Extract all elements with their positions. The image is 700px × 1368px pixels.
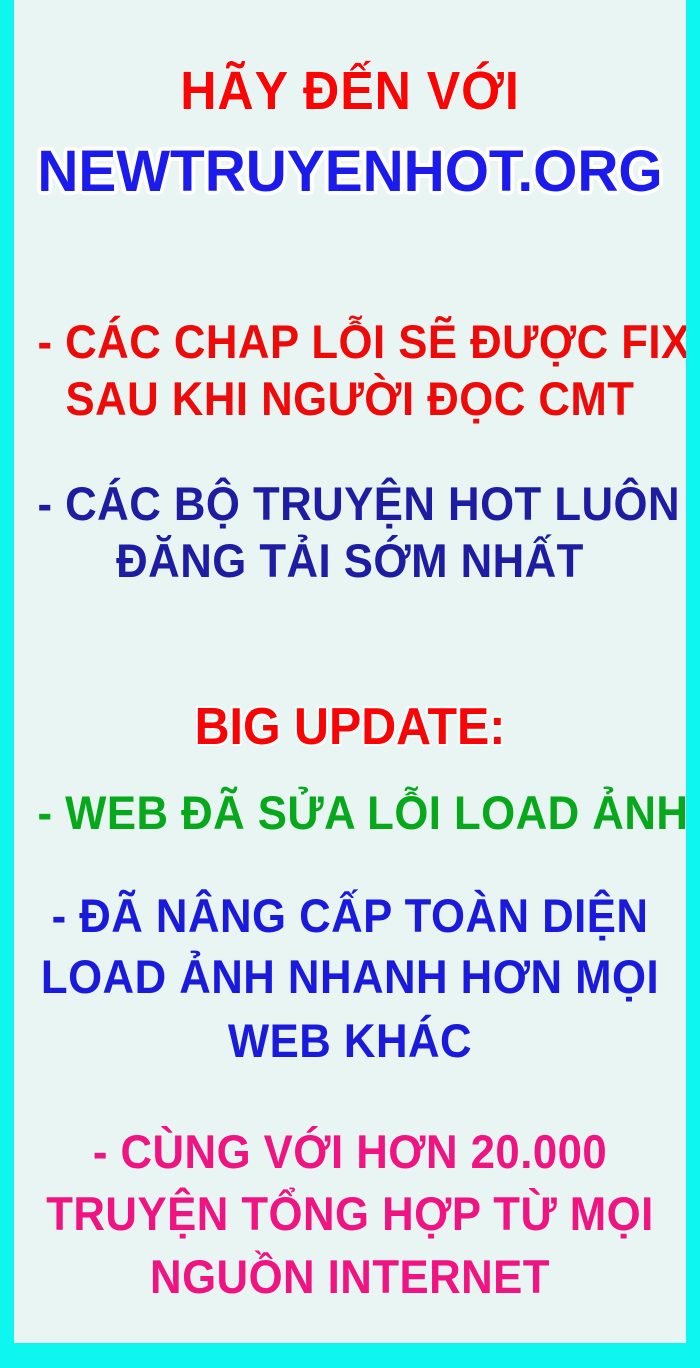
banner-canvas: HÃY ĐẾN VỚI NEWTRUYENHOT.ORG - CÁC CHAP … <box>14 0 686 1343</box>
update-image-load-fix-line-1: - WEB ĐÃ SỬA LỖI LOAD ẢNH <box>38 789 663 836</box>
notice-fix-chapters-line-1: - CÁC CHAP LỖI SẼ ĐƯỢC FIX <box>38 318 663 365</box>
site-domain-title[interactable]: NEWTRUYENHOT.ORG <box>21 143 680 201</box>
big-update-heading: BIG UPDATE: <box>38 701 663 753</box>
notice-hot-series-line-1: - CÁC BỘ TRUYỆN HOT LUÔN <box>38 480 663 527</box>
right-edge-bar <box>686 0 700 1364</box>
update-catalog-size-line-1: - CÙNG VỚI HƠN 20.000 <box>38 1128 663 1175</box>
update-catalog-size-line-2: TRUYỆN TỔNG HỢP TỪ MỌI <box>38 1190 663 1237</box>
bottom-edge-bar <box>0 1343 700 1368</box>
update-full-upgrade-line-2: LOAD ẢNH NHANH HƠN MỌI <box>38 953 663 1000</box>
promo-banner: HÃY ĐẾN VỚI NEWTRUYENHOT.ORG - CÁC CHAP … <box>0 0 700 1368</box>
update-catalog-size-line-3: NGUỒN INTERNET <box>38 1253 663 1300</box>
notice-hot-series-line-2: ĐĂNG TẢI SỚM NHẤT <box>38 537 663 584</box>
update-full-upgrade-line-1: - ĐÃ NÂNG CẤP TOÀN DIỆN <box>38 892 663 939</box>
update-full-upgrade-line-3: WEB KHÁC <box>38 1017 663 1064</box>
notice-fix-chapters-line-2: SAU KHI NGƯỜI ĐỌC CMT <box>38 375 663 422</box>
left-edge-bar <box>0 0 14 1364</box>
headline-tagline: HÃY ĐẾN VỚI <box>38 64 663 118</box>
